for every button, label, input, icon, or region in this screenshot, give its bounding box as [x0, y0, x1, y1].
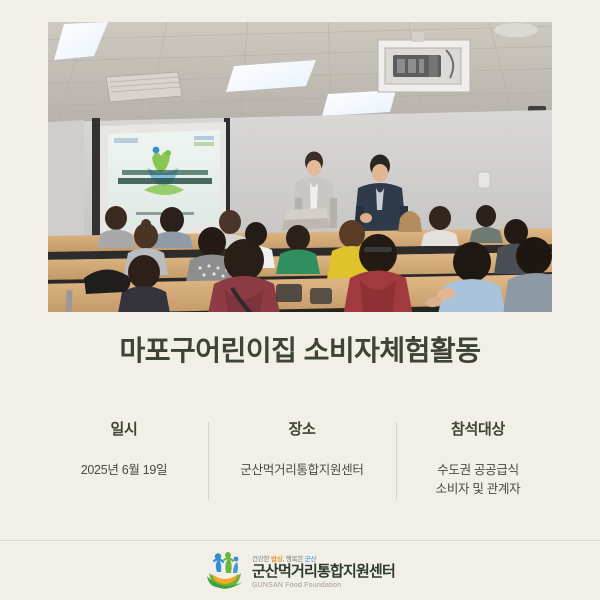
info-value-attendees-line1: 수도권 공공급식 [402, 461, 554, 480]
gunsan-food-foundation-logo-icon [205, 552, 245, 590]
logo-text-block: 건강한 밥상, 행복한 군산 군산먹거리통합지원센터 GUNSAN Food F… [252, 553, 395, 589]
info-value-attendees-line2: 소비자 및 관계자 [402, 480, 554, 499]
info-value-date: 2025년 6월 19일 [46, 461, 202, 480]
info-heading-date: 일시 [46, 418, 202, 439]
info-column-place: 장소 군산먹거리통합지원센터 [208, 418, 396, 480]
info-heading-attendees: 참석대상 [402, 418, 554, 439]
info-heading-place: 장소 [214, 418, 390, 439]
logo-tagline: 건강한 밥상, 행복한 군산 [252, 553, 395, 563]
logo-symbol [205, 552, 245, 590]
info-value-place: 군산먹거리통합지원센터 [214, 461, 390, 480]
info-column-attendees: 참석대상 수도권 공공급식 소비자 및 관계자 [396, 418, 560, 500]
logo-organization-name: 군산먹거리통합지원센터 [252, 564, 395, 580]
event-poster: 마포구어린이집 소비자체험활동 일시 2025년 6월 19일 장소 군산먹거리… [0, 0, 600, 600]
footer-divider [0, 540, 600, 541]
organization-logo: 건강한 밥상, 행복한 군산 군산먹거리통합지원센터 GUNSAN Food F… [205, 552, 395, 590]
event-info-row: 일시 2025년 6월 19일 장소 군산먹거리통합지원센터 참석대상 수도권 … [40, 418, 560, 510]
logo-organization-name-en: GUNSAN Food Foundation [252, 582, 395, 589]
info-column-date: 일시 2025년 6월 19일 [40, 418, 208, 480]
page-title: 마포구어린이집 소비자체험활동 [0, 333, 600, 368]
event-photo-illustration [48, 22, 552, 312]
event-photo [48, 22, 552, 312]
footer: 건강한 밥상, 행복한 군산 군산먹거리통합지원센터 GUNSAN Food F… [0, 542, 600, 600]
